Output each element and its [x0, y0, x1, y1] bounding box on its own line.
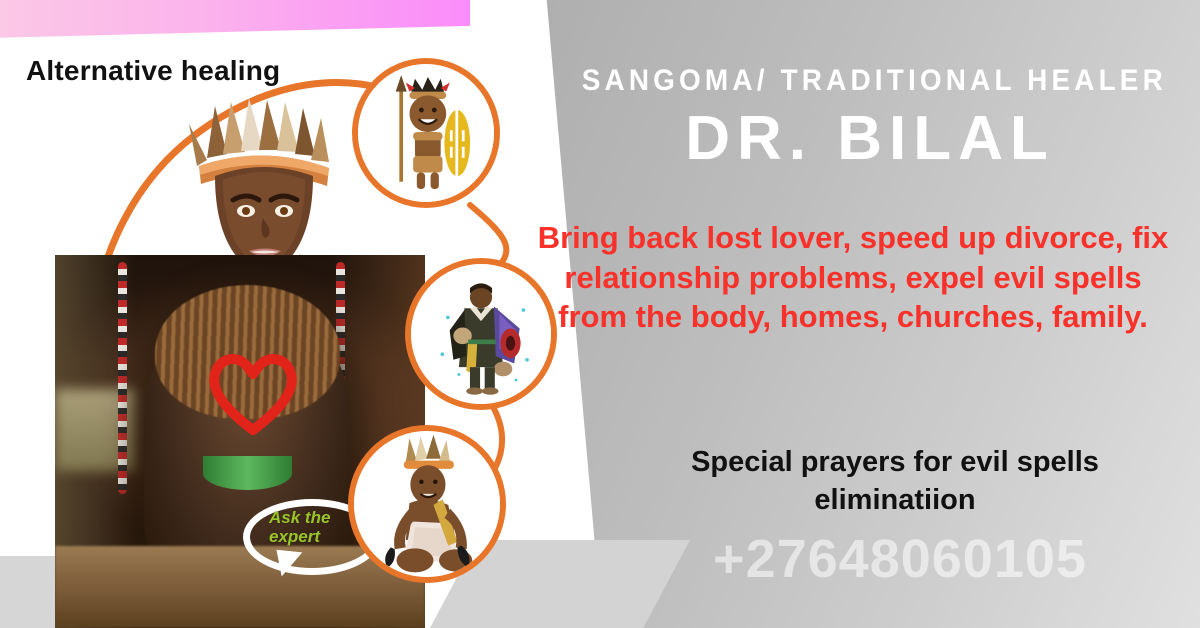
photo-necklace — [203, 456, 292, 490]
kneeling-dancer-illustration — [354, 431, 500, 577]
healer-photo: Ask the expert +27648060105 Dr. Bilal Ex… — [55, 255, 425, 628]
heart-icon — [205, 348, 301, 436]
services-text: Bring back lost lover, speed up divorce,… — [528, 218, 1178, 337]
bottom-left-grey-strip — [0, 556, 58, 628]
poster-canvas: Alternative healing — [0, 0, 1200, 628]
top-left-pink-bar — [0, 0, 470, 38]
phone-watermark: +27648060105 — [600, 528, 1200, 590]
circle-node-kneeling-dancer — [348, 425, 506, 583]
circle-node-zulu-warrior — [352, 58, 500, 208]
healer-name: DR. BILAL — [560, 103, 1180, 174]
zulu-warrior-illustration — [358, 64, 494, 202]
kicker-text: SANGOMA/ TRADITIONAL HEALER — [582, 64, 1159, 98]
special-offer-text: Special prayers for evil spells eliminat… — [610, 444, 1180, 519]
bead-strand-left — [118, 262, 127, 493]
page-title: Alternative healing — [26, 55, 280, 87]
